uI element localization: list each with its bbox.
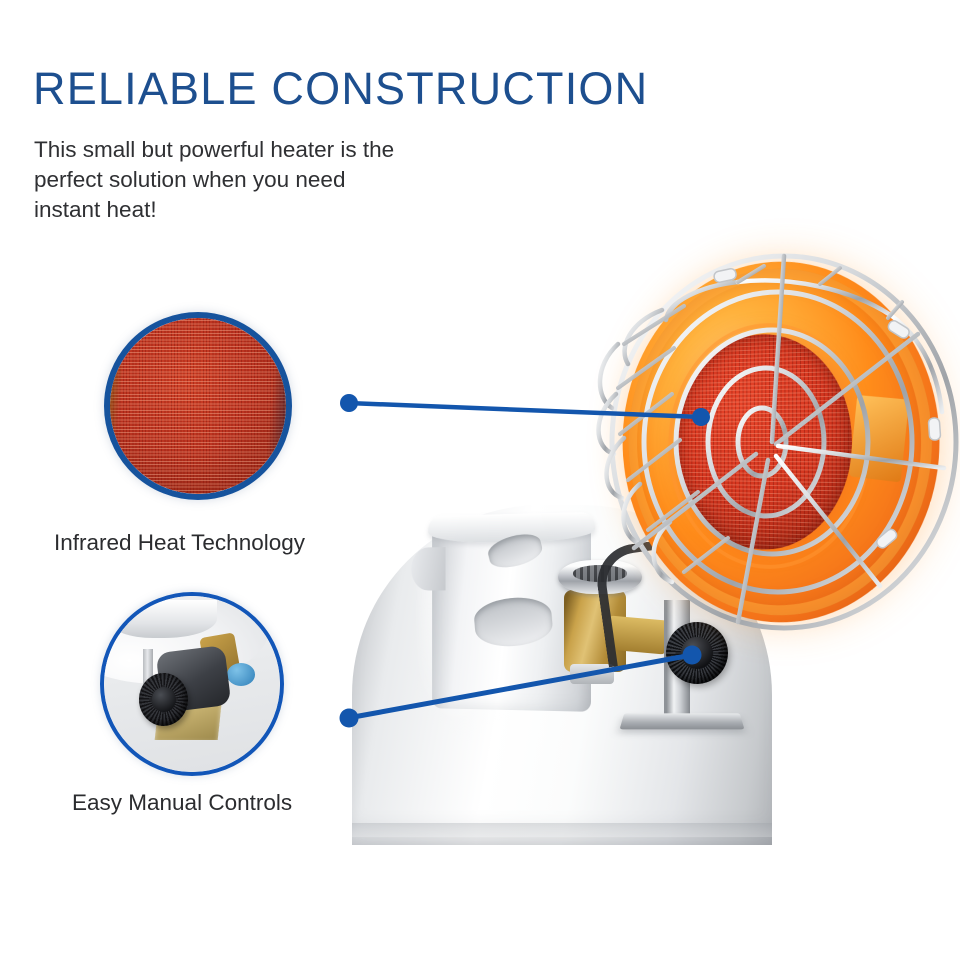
subcopy-line-3: instant heat! (34, 195, 514, 225)
callout-easy-manual-controls[interactable] (100, 592, 284, 776)
subcopy-line-1: This small but powerful heater is the (34, 135, 514, 165)
callout-caption-infrared: Infrared Heat Technology (54, 530, 305, 556)
heater-head (588, 248, 960, 638)
knob-photo-blue-part (227, 663, 255, 686)
product-photo (300, 240, 960, 840)
valve-nut (570, 664, 614, 684)
collar-hand-hole (473, 594, 554, 649)
subcopy-line-2: perfect solution when you need (34, 165, 514, 195)
callout-caption-controls: Easy Manual Controls (72, 790, 292, 816)
page-title: RELIABLE CONSTRUCTION (33, 66, 648, 111)
infographic-canvas: RELIABLE CONSTRUCTION This small but pow… (0, 0, 960, 960)
infrared-mesh-texture (110, 318, 286, 494)
knob-photo (104, 596, 280, 772)
knob-photo-chrome (111, 600, 217, 639)
collar-tab (411, 547, 445, 591)
tank-seam (352, 823, 772, 837)
stand-base-plate (620, 713, 745, 729)
wire-safety-cage (588, 248, 960, 638)
callout-infrared-heat-technology[interactable] (104, 312, 292, 500)
subcopy-paragraph: This small but powerful heater is the pe… (34, 135, 514, 225)
callout-infrared-image (110, 318, 286, 494)
callout-controls-image (104, 596, 280, 772)
